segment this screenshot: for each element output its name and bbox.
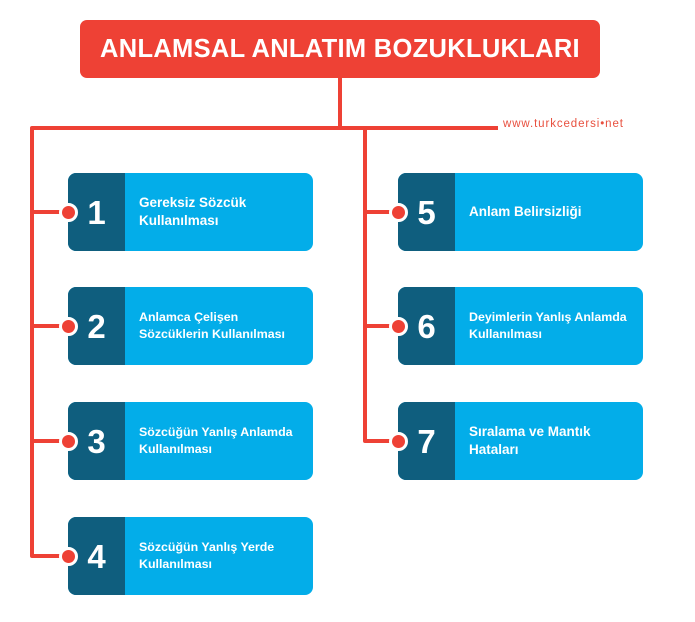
page-title: ANLAMSAL ANLATIM BOZUKLUKLARI xyxy=(100,35,580,64)
item-label-6: Deyimlerin Yanlış Anlamda Kullanılması xyxy=(469,309,633,342)
item-label-3: Sözcüğün Yanlış Anlamda Kullanılması xyxy=(139,424,303,457)
item-card-5[interactable]: 5 Anlam Belirsizliği xyxy=(398,173,643,251)
item-label-1: Gereksiz Sözcük Kullanılması xyxy=(139,194,303,230)
item-bullet-dot-1 xyxy=(59,203,78,222)
item-card-3[interactable]: 3 Sözcüğün Yanlış Anlamda Kullanılması xyxy=(68,402,313,480)
item-body-1: Gereksiz Sözcük Kullanılması xyxy=(125,173,313,251)
item-bullet-dot-5 xyxy=(389,203,408,222)
item-body-6: Deyimlerin Yanlış Anlamda Kullanılması xyxy=(455,287,643,365)
page-title-bar: ANLAMSAL ANLATIM BOZUKLUKLARI xyxy=(80,20,600,78)
item-bullet-dot-6 xyxy=(389,317,408,336)
item-body-7: Sıralama ve Mantık Hataları xyxy=(455,402,643,480)
item-body-5: Anlam Belirsizliği xyxy=(455,173,643,251)
item-body-4: Sözcüğün Yanlış Yerde Kullanılması xyxy=(125,517,313,595)
item-card-1[interactable]: 1 Gereksiz Sözcük Kullanılması xyxy=(68,173,313,251)
item-label-4: Sözcüğün Yanlış Yerde Kullanılması xyxy=(139,539,303,572)
infographic-root: ANLAMSAL ANLATIM BOZUKLUKLARI www.turkce… xyxy=(0,0,695,622)
item-label-5: Anlam Belirsizliği xyxy=(469,203,582,221)
item-bullet-dot-7 xyxy=(389,432,408,451)
item-bullet-dot-2 xyxy=(59,317,78,336)
item-number-7: 7 xyxy=(417,425,435,458)
item-card-6[interactable]: 6 Deyimlerin Yanlış Anlamda Kullanılması xyxy=(398,287,643,365)
item-label-2: Anlamca Çelişen Sözcüklerin Kullanılması xyxy=(139,309,303,342)
item-number-5: 5 xyxy=(417,196,435,229)
item-card-4[interactable]: 4 Sözcüğün Yanlış Yerde Kullanılması xyxy=(68,517,313,595)
item-bullet-dot-4 xyxy=(59,547,78,566)
item-body-2: Anlamca Çelişen Sözcüklerin Kullanılması xyxy=(125,287,313,365)
item-number-6: 6 xyxy=(417,310,435,343)
watermark-text: www.turkcedersi•net xyxy=(503,118,624,130)
item-number-2: 2 xyxy=(87,310,105,343)
item-bullet-dot-3 xyxy=(59,432,78,451)
item-label-7: Sıralama ve Mantık Hataları xyxy=(469,423,633,459)
item-body-3: Sözcüğün Yanlış Anlamda Kullanılması xyxy=(125,402,313,480)
item-number-1: 1 xyxy=(87,196,105,229)
item-number-4: 4 xyxy=(87,540,105,573)
item-number-3: 3 xyxy=(87,425,105,458)
item-card-2[interactable]: 2 Anlamca Çelişen Sözcüklerin Kullanılma… xyxy=(68,287,313,365)
item-card-7[interactable]: 7 Sıralama ve Mantık Hataları xyxy=(398,402,643,480)
